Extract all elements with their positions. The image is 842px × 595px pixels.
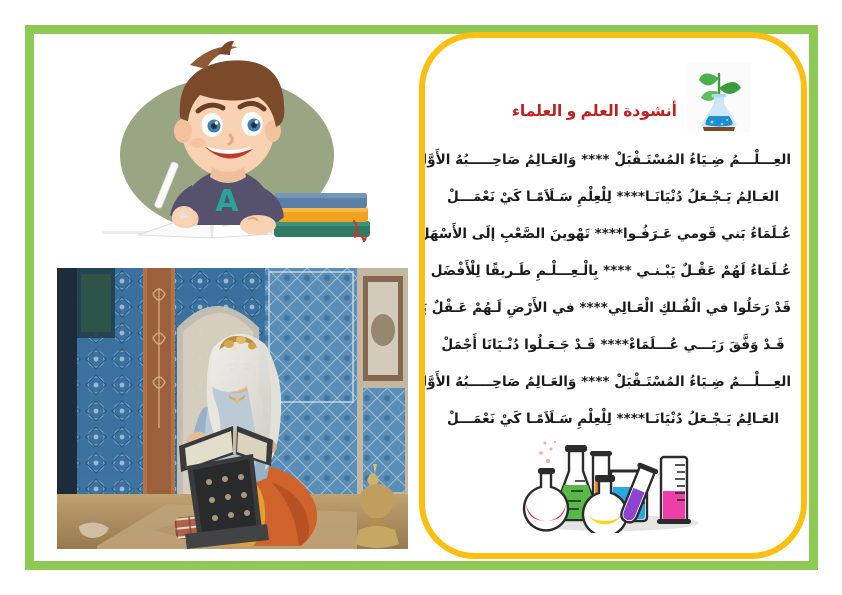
card-header: أنشودة العلم و العلماء xyxy=(425,56,801,138)
poem-line: قَدْ رَحَلُوا في الْفُـلكِ الْعَـالِي***… xyxy=(435,290,791,327)
poem-card: أنشودة العلم و العلماء العِـــلْـــمُ ضِ… xyxy=(419,32,807,559)
poem-line: العِـــلْـــمُ ضِـيَاءُ المُسْتَـقْبَلْ … xyxy=(435,142,791,179)
poem-line: عُـلَمَاءُ بَني قَومي عَـرَفُـوا**** تَه… xyxy=(435,216,791,253)
poem-body: العِـــلْـــمُ ضِـيَاءُ المُسْتَـقْبَلْ … xyxy=(425,142,801,438)
poem-line: العِـــلْـــمُ ضِـيَاءُ المُسْتَـقْبَلْ … xyxy=(435,364,791,401)
poem-line: عُـلَمَاءُ لَهُمْ عَقْـلٌ يَبْـنـي **** … xyxy=(435,253,791,290)
graduated-cylinder-pink xyxy=(657,457,691,524)
studying-boy-illustration: A xyxy=(62,35,392,247)
woman-reading-painting xyxy=(57,268,408,549)
page-title: أنشودة العلم و العلماء xyxy=(512,102,677,121)
poem-line: قَـدْ وَفَّقَ رَبَـــي عُـــلَمَاءْ**** … xyxy=(435,327,791,364)
lab-glassware-icon xyxy=(515,437,711,533)
poem-line: العَـالِمُ يَـجْـعَلُ دُنْيَانَـا**** لِ… xyxy=(435,179,791,216)
poem-line: العَـالِمُ يَـجْـعَلُ دُنْيَانَـا**** لِ… xyxy=(435,401,791,438)
shirt-letter: A xyxy=(215,184,239,219)
worksheet-page: A xyxy=(0,0,842,595)
book-stack xyxy=(274,193,370,241)
plant-in-flask-icon xyxy=(687,62,751,132)
